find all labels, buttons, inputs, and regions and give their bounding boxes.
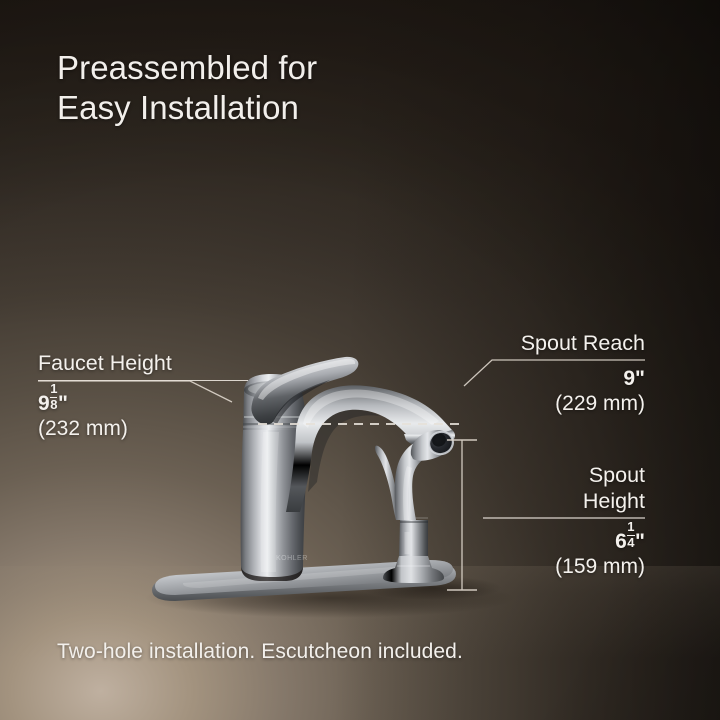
callout-faucet-height-rule [38,380,248,381]
callout-spout-reach: Spout Reach 9" (229 mm) [435,330,645,417]
callout-spout-height-metric: (159 mm) [435,554,645,580]
footer-caption: Two-hole installation. Escutcheon includ… [57,640,463,664]
infographic-canvas: KOHLER [0,0,720,720]
callout-faucet-height: Faucet Height 918" (232 mm) [38,350,248,442]
callout-faucet-height-title: Faucet Height [38,350,248,376]
callout-spout-height-value: 614" [435,524,645,554]
callout-spout-reach-value: 9" [435,366,645,391]
callout-spout-reach-title: Spout Reach [435,330,645,356]
callout-faucet-height-value: 918" [38,386,248,416]
page-title: Preassembled for Easy Installation [57,48,317,128]
callout-spout-height-title-line2: Height [435,488,645,514]
callout-spout-reach-metric: (229 mm) [435,391,645,417]
callout-spout-height-title-line1: Spout [435,462,645,488]
callout-faucet-height-metric: (232 mm) [38,416,248,442]
callout-spout-height: Spout Height 614" (159 mm) [435,462,645,580]
